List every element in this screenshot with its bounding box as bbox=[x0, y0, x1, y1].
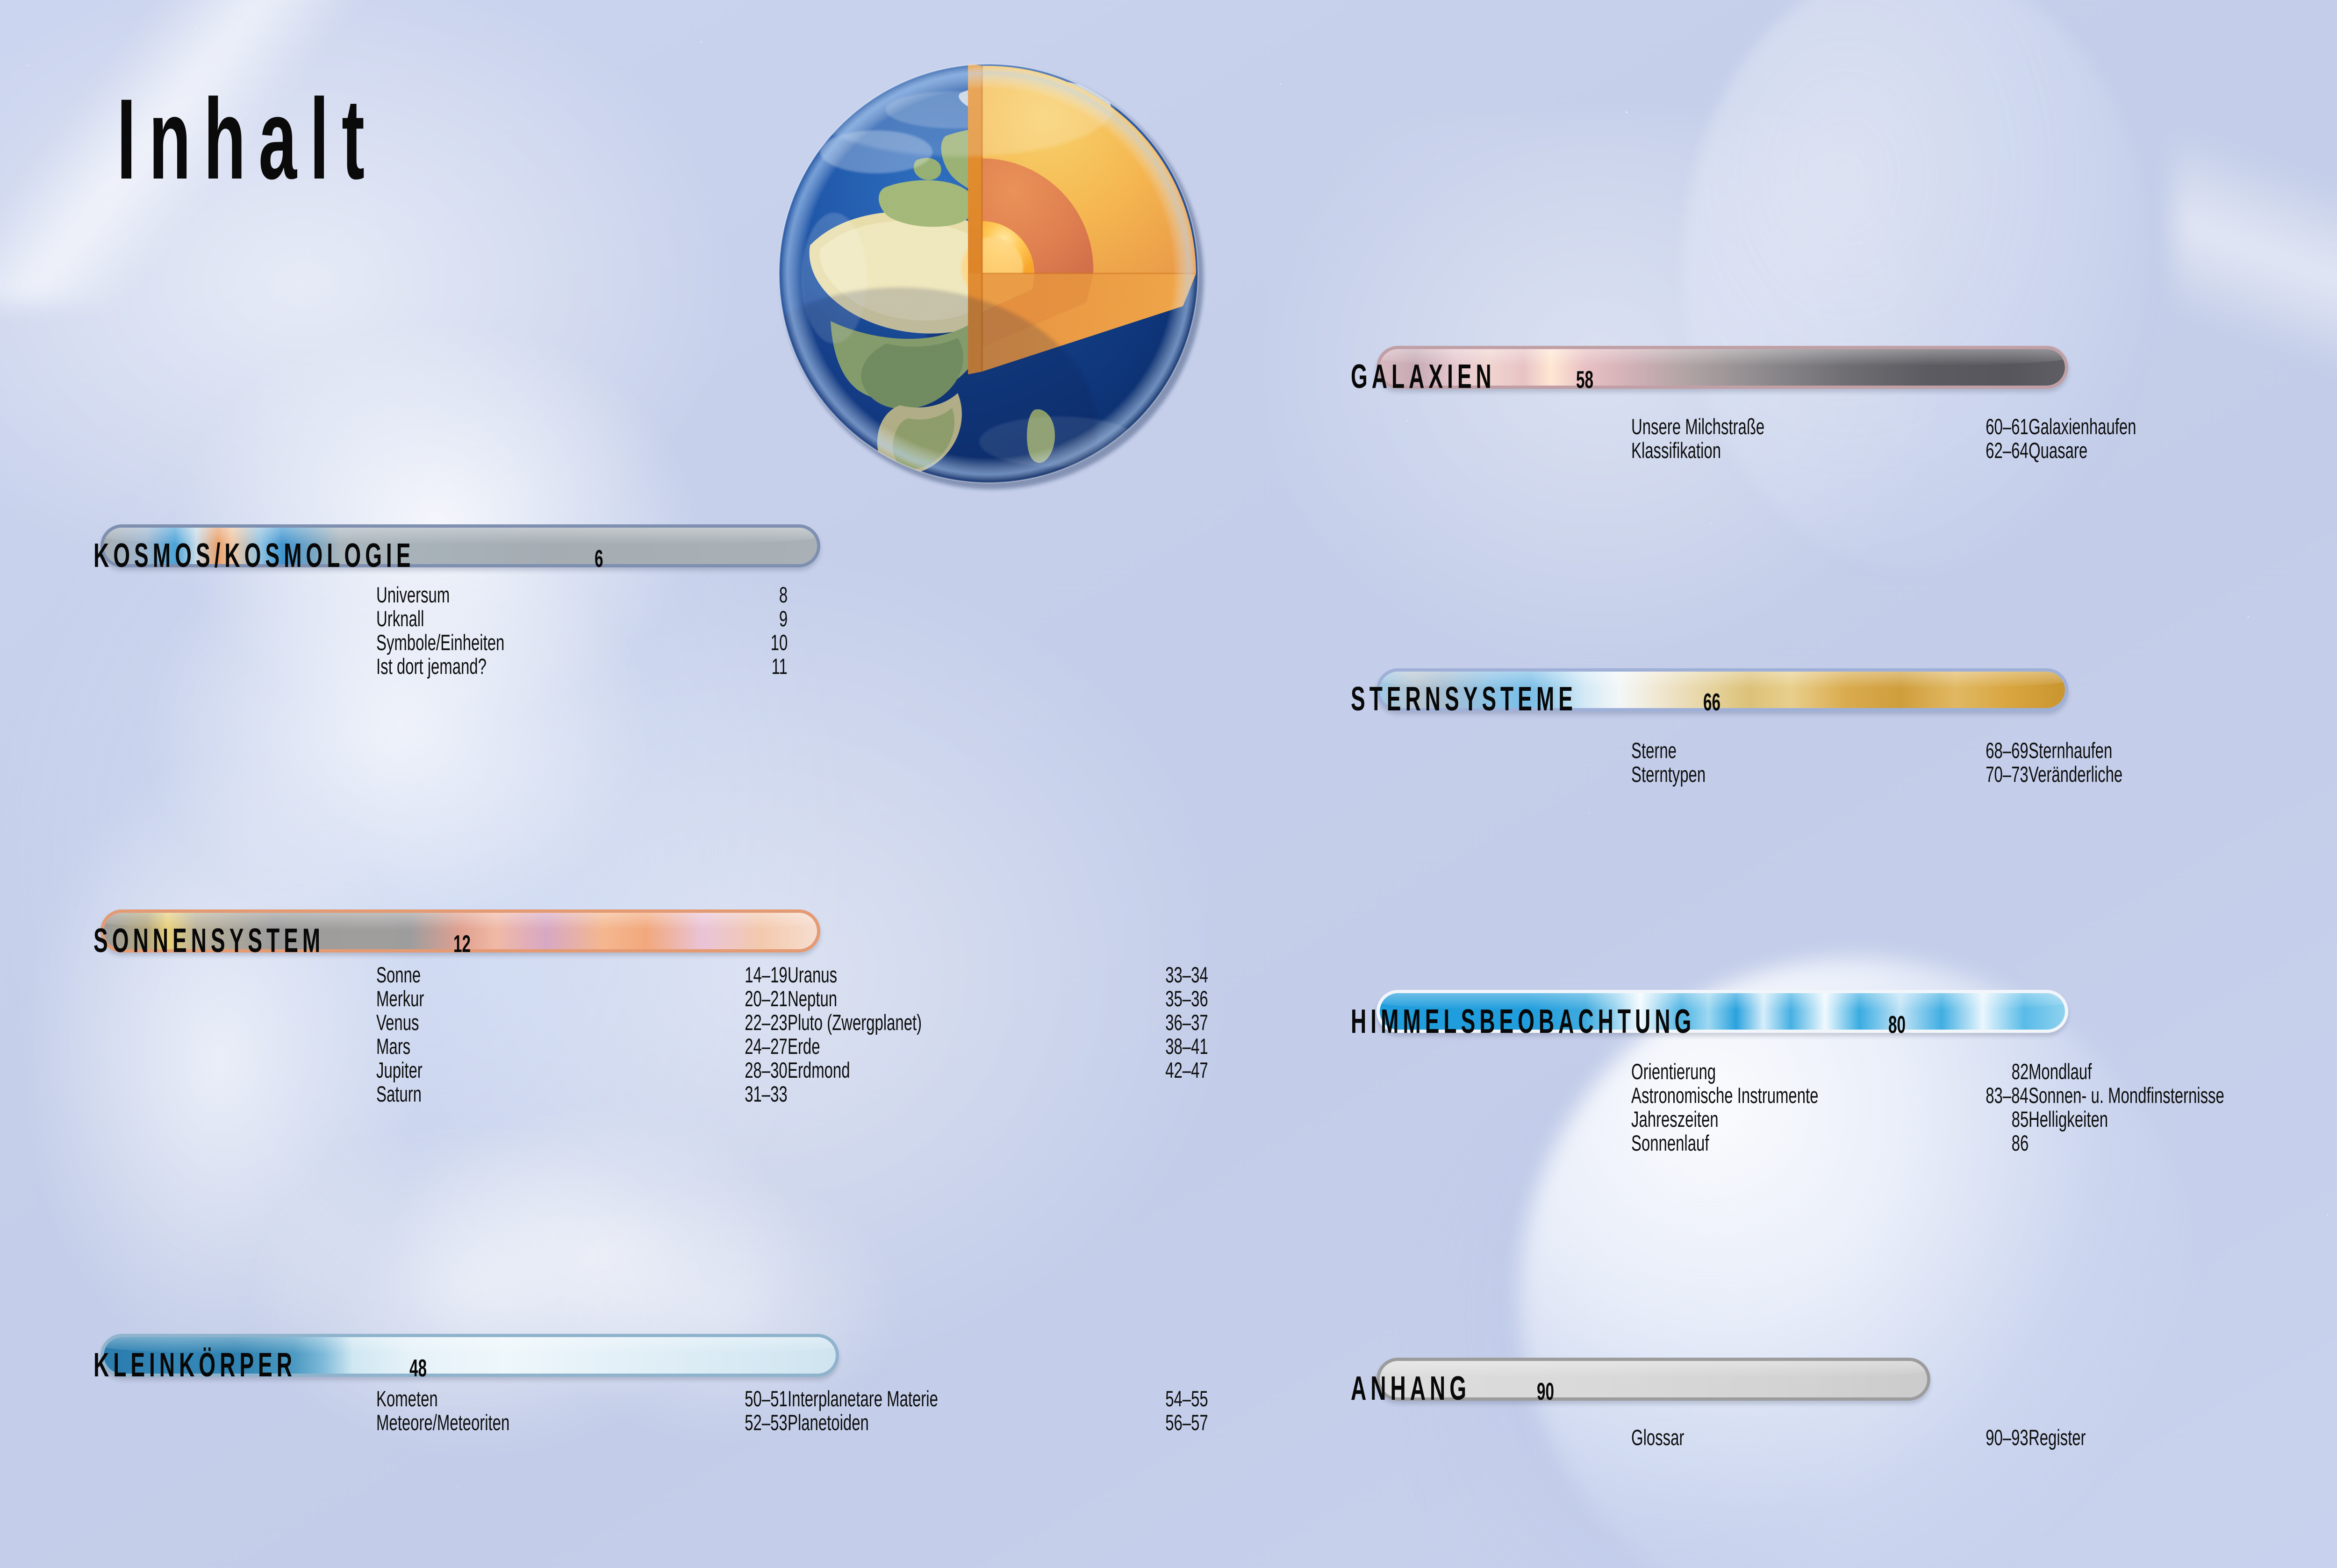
entry-column-kosmos-0: Universum8Urknall9Symbole/Einheiten10Ist… bbox=[376, 582, 788, 677]
toc-entry-label: Pluto (Zwergplanet) bbox=[788, 1010, 922, 1035]
toc-entry-page: 62–64 bbox=[1986, 437, 2029, 463]
section-header-sternsysteme: STERNSYSTEME66 bbox=[1351, 680, 1730, 718]
toc-entry-label: Jahreszeiten bbox=[1631, 1106, 1719, 1132]
toc-entry-page: 86 bbox=[2011, 1130, 2029, 1156]
toc-entry[interactable]: Venus22–23 bbox=[376, 1010, 788, 1033]
toc-entry-label: Quasare bbox=[2029, 437, 2087, 463]
toc-entry-page: 33–34 bbox=[1166, 962, 1208, 988]
toc-entry-label: Merkur bbox=[376, 986, 424, 1011]
section-page-anhang: 90 bbox=[1537, 1378, 1554, 1406]
toc-entry[interactable]: Kometen50–51 bbox=[376, 1386, 788, 1410]
toc-entry-page: 10 bbox=[770, 630, 788, 655]
toc-entry-label: Erde bbox=[788, 1033, 820, 1059]
toc-entry[interactable]: Erde38–41 bbox=[788, 1033, 1208, 1057]
toc-entry-page: 9 bbox=[779, 606, 788, 631]
toc-entry[interactable]: Jahreszeiten85 bbox=[1631, 1106, 2029, 1130]
toc-entry-label: Planetoiden bbox=[788, 1410, 869, 1435]
section-header-himmelsbeobachtung: HIMMELSBEOBACHTUNG80 bbox=[1351, 1002, 1915, 1041]
section-page-galaxien: 58 bbox=[1576, 366, 1593, 394]
toc-entry-label: Erdmond bbox=[788, 1057, 850, 1083]
toc-entry-page: 52–53 bbox=[745, 1410, 788, 1435]
toc-entry-page: 35–36 bbox=[1166, 986, 1208, 1011]
section-title-sonnensystem: SONNENSYSTEM bbox=[93, 922, 324, 960]
section-entries-galaxien: Unsere Milchstraße60–61Klassifikation62–… bbox=[1631, 414, 2337, 461]
toc-entry-page: 8 bbox=[779, 582, 788, 608]
section-header-kosmos: KOSMOS/KOSMOLOGIE6 bbox=[93, 537, 608, 575]
toc-entry-label: Saturn bbox=[376, 1081, 422, 1107]
toc-entry-page: 60–61 bbox=[1986, 414, 2029, 439]
toc-entry-label: Universum bbox=[376, 582, 450, 608]
toc-entry-page: 20–21 bbox=[745, 986, 788, 1011]
section-entries-anhang: Glossar90–93Register94–96 bbox=[1631, 1425, 2337, 1448]
toc-entry-page: 14–19 bbox=[745, 962, 788, 988]
toc-entry-label: Sterntypen bbox=[1631, 761, 1706, 787]
toc-entry[interactable]: Uranus33–34 bbox=[788, 962, 1208, 986]
toc-entry-label: Veränderliche bbox=[2029, 761, 2122, 787]
toc-entry[interactable]: Symbole/Einheiten10 bbox=[376, 630, 788, 653]
section-page-sonnensystem: 12 bbox=[453, 930, 471, 958]
section-header-kleinkoerper: KLEINKÖRPER48 bbox=[93, 1346, 437, 1384]
entry-column-kleinkoerper-0: Kometen50–51Meteore/Meteoriten52–53 bbox=[376, 1386, 788, 1433]
toc-entry-page: 36–37 bbox=[1166, 1010, 1208, 1035]
toc-entry-page: 56–57 bbox=[1166, 1410, 1208, 1435]
toc-entry-label: Helligkeiten bbox=[2029, 1106, 2108, 1132]
toc-entry[interactable]: Sterntypen70–73 bbox=[1631, 761, 2029, 785]
toc-entry[interactable]: Sonnenlauf86 bbox=[1631, 1130, 2029, 1154]
entry-column-sonnensystem-0: Sonne14–19Merkur20–21Venus22–23Mars24–27… bbox=[376, 962, 788, 1105]
section-page-kosmos: 6 bbox=[595, 545, 603, 573]
toc-entry[interactable]: Neptun35–36 bbox=[788, 986, 1208, 1010]
toc-entry[interactable]: Jupiter28–30 bbox=[376, 1057, 788, 1081]
entry-column-sternsysteme-0: Sterne68–69Sterntypen70–73 bbox=[1631, 737, 2029, 785]
toc-entry-label: Klassifikation bbox=[1631, 437, 1721, 463]
toc-entry-page: 54–55 bbox=[1166, 1386, 1208, 1411]
toc-entry-label: Sonnen- u. Mondfinsternisse bbox=[2029, 1082, 2224, 1108]
entry-column-galaxien-0: Unsere Milchstraße60–61Klassifikation62–… bbox=[1631, 414, 2029, 461]
toc-entry-label: Kometen bbox=[376, 1386, 438, 1411]
toc-entry-label: Meteore/Meteoriten bbox=[376, 1410, 509, 1435]
section-page-kleinkoerper: 48 bbox=[409, 1354, 427, 1382]
section-title-himmelsbeobachtung: HIMMELSBEOBACHTUNG bbox=[1351, 1002, 1695, 1041]
toc-entry-page: 11 bbox=[772, 653, 788, 679]
toc-entry-page: 31–33 bbox=[745, 1081, 788, 1107]
toc-entry[interactable]: Helligkeiten89 bbox=[2029, 1106, 2337, 1130]
toc-entry-label: Neptun bbox=[788, 986, 837, 1011]
toc-entry[interactable]: Klassifikation62–64 bbox=[1631, 437, 2029, 461]
page-title: Inhalt bbox=[117, 82, 378, 196]
section-header-anhang: ANHANG90 bbox=[1351, 1369, 1564, 1408]
toc-entry-label: Jupiter bbox=[376, 1057, 423, 1083]
toc-entry[interactable]: Sonnen- u. Mondfinsternisse88–89 bbox=[2029, 1082, 2337, 1106]
entry-column-sonnensystem-1: Uranus33–34Neptun35–36Pluto (Zwergplanet… bbox=[788, 962, 1208, 1105]
section-title-kosmos: KOSMOS/KOSMOLOGIE bbox=[93, 537, 415, 575]
toc-entry-label: Mars bbox=[376, 1033, 410, 1059]
toc-entry-page: 70–73 bbox=[1986, 761, 2029, 787]
toc-entry-label: Astronomische Instrumente bbox=[1631, 1082, 1818, 1108]
toc-entry-label: Register bbox=[2029, 1425, 2086, 1450]
toc-entry-page: 22–23 bbox=[745, 1010, 788, 1035]
toc-entry-page: 85 bbox=[2011, 1106, 2029, 1132]
section-header-galaxien: GALAXIEN58 bbox=[1351, 358, 1603, 396]
section-title-anhang: ANHANG bbox=[1351, 1369, 1470, 1408]
toc-entry[interactable]: Sonne14–19 bbox=[376, 962, 788, 986]
earth-cutaway-illustration bbox=[760, 44, 1218, 502]
toc-entry[interactable]: Saturn31–33 bbox=[376, 1081, 788, 1105]
toc-entry-label: Urknall bbox=[376, 606, 424, 631]
toc-entry[interactable]: Orientierung82 bbox=[1631, 1059, 2029, 1082]
toc-entry[interactable]: Universum8 bbox=[376, 582, 788, 606]
section-title-galaxien: GALAXIEN bbox=[1351, 358, 1496, 396]
toc-entry[interactable]: Planetoiden56–57 bbox=[788, 1410, 1208, 1433]
entry-column-galaxien-1: Galaxienhaufen64–65Quasare65 bbox=[2029, 414, 2337, 461]
toc-entry[interactable]: Urknall9 bbox=[376, 606, 788, 630]
toc-entry[interactable]: Pluto (Zwergplanet)36–37 bbox=[788, 1010, 1208, 1033]
entry-column-sternsysteme-1: Sternhaufen73–75Veränderliche76–79 bbox=[2029, 737, 2337, 785]
toc-entry[interactable]: Mars24–27 bbox=[376, 1033, 788, 1057]
toc-entry-label: Uranus bbox=[788, 962, 837, 988]
toc-entry-label: Venus bbox=[376, 1010, 419, 1035]
toc-entry[interactable]: Mondlauf87 bbox=[2029, 1059, 2337, 1082]
section-entries-kosmos: Universum8Urknall9Symbole/Einheiten10Ist… bbox=[376, 582, 788, 677]
entry-column-anhang-0: Glossar90–93 bbox=[1631, 1425, 2029, 1448]
section-entries-kleinkoerper: Kometen50–51Meteore/Meteoriten52–53Inter… bbox=[376, 1386, 1208, 1433]
toc-entry[interactable]: Meteore/Meteoriten52–53 bbox=[376, 1410, 788, 1433]
toc-entry-label: Sonne bbox=[376, 962, 421, 988]
toc-entry-page: 38–41 bbox=[1166, 1033, 1208, 1059]
toc-entry[interactable]: Interplanetare Materie54–55 bbox=[788, 1386, 1208, 1410]
toc-entry[interactable]: Galaxienhaufen64–65 bbox=[2029, 414, 2337, 437]
entry-column-himmelsbeobachtung-1: Mondlauf87Sonnen- u. Mondfinsternisse88–… bbox=[2029, 1059, 2337, 1154]
toc-entry-page: 28–30 bbox=[745, 1057, 788, 1083]
section-entries-himmelsbeobachtung: Orientierung82Astronomische Instrumente8… bbox=[1631, 1059, 2337, 1154]
toc-entry[interactable]: Sterne68–69 bbox=[1631, 737, 2029, 761]
toc-entry-label: Symbole/Einheiten bbox=[376, 630, 504, 655]
toc-entry-page: 83–84 bbox=[1986, 1082, 2029, 1108]
toc-entry[interactable]: Erdmond42–47 bbox=[788, 1057, 1208, 1081]
section-entries-sonnensystem: Sonne14–19Merkur20–21Venus22–23Mars24–27… bbox=[376, 962, 1208, 1105]
section-page-himmelsbeobachtung: 80 bbox=[1888, 1011, 1906, 1039]
toc-entry[interactable]: Astronomische Instrumente83–84 bbox=[1631, 1082, 2029, 1106]
toc-entry-page: 90–93 bbox=[1986, 1425, 2029, 1450]
section-entries-sternsysteme: Sterne68–69Sterntypen70–73Sternhaufen73–… bbox=[1631, 737, 2337, 785]
toc-entry-page: 50–51 bbox=[745, 1386, 788, 1411]
toc-entry-label: Sonnenlauf bbox=[1631, 1130, 1709, 1156]
entry-column-himmelsbeobachtung-0: Orientierung82Astronomische Instrumente8… bbox=[1631, 1059, 2029, 1154]
toc-entry-label: Orientierung bbox=[1631, 1059, 1716, 1084]
toc-entry-page: 24–27 bbox=[745, 1033, 788, 1059]
entry-column-kleinkoerper-1: Interplanetare Materie54–55Planetoiden56… bbox=[788, 1386, 1208, 1433]
section-page-sternsysteme: 66 bbox=[1703, 688, 1720, 716]
toc-entry-label: Galaxienhaufen bbox=[2029, 414, 2136, 439]
toc-entry-page: 42–47 bbox=[1166, 1057, 1208, 1083]
toc-entry-label: Mondlauf bbox=[2029, 1059, 2092, 1084]
toc-entry-label: Sternhaufen bbox=[2029, 737, 2112, 763]
toc-entry-label: Ist dort jemand? bbox=[376, 653, 487, 679]
toc-entry[interactable]: Sternhaufen73–75 bbox=[2029, 737, 2337, 761]
toc-entry[interactable]: Glossar90–93 bbox=[1631, 1425, 2029, 1448]
toc-entry-page: 82 bbox=[2011, 1059, 2029, 1084]
section-title-sternsysteme: STERNSYSTEME bbox=[1351, 680, 1577, 718]
toc-entry-label: Unsere Milchstraße bbox=[1631, 414, 1764, 439]
toc-entry-page: 68–69 bbox=[1986, 737, 2029, 763]
toc-entry[interactable]: Ist dort jemand?11 bbox=[376, 653, 788, 677]
toc-entry[interactable]: Quasare65 bbox=[2029, 437, 2337, 461]
toc-entry-label: Interplanetare Materie bbox=[788, 1386, 938, 1411]
toc-entry-label: Glossar bbox=[1631, 1425, 1684, 1450]
entry-column-anhang-1: Register94–96 bbox=[2029, 1425, 2337, 1448]
toc-entry[interactable]: Unsere Milchstraße60–61 bbox=[1631, 414, 2029, 437]
section-title-kleinkoerper: KLEINKÖRPER bbox=[93, 1346, 296, 1384]
toc-entry-label: Sterne bbox=[1631, 737, 1677, 763]
toc-entry[interactable]: Register94–96 bbox=[2029, 1425, 2337, 1448]
toc-entry[interactable]: Merkur20–21 bbox=[376, 986, 788, 1010]
section-header-sonnensystem: SONNENSYSTEM12 bbox=[93, 922, 480, 960]
toc-entry[interactable]: Veränderliche76–79 bbox=[2029, 761, 2337, 785]
